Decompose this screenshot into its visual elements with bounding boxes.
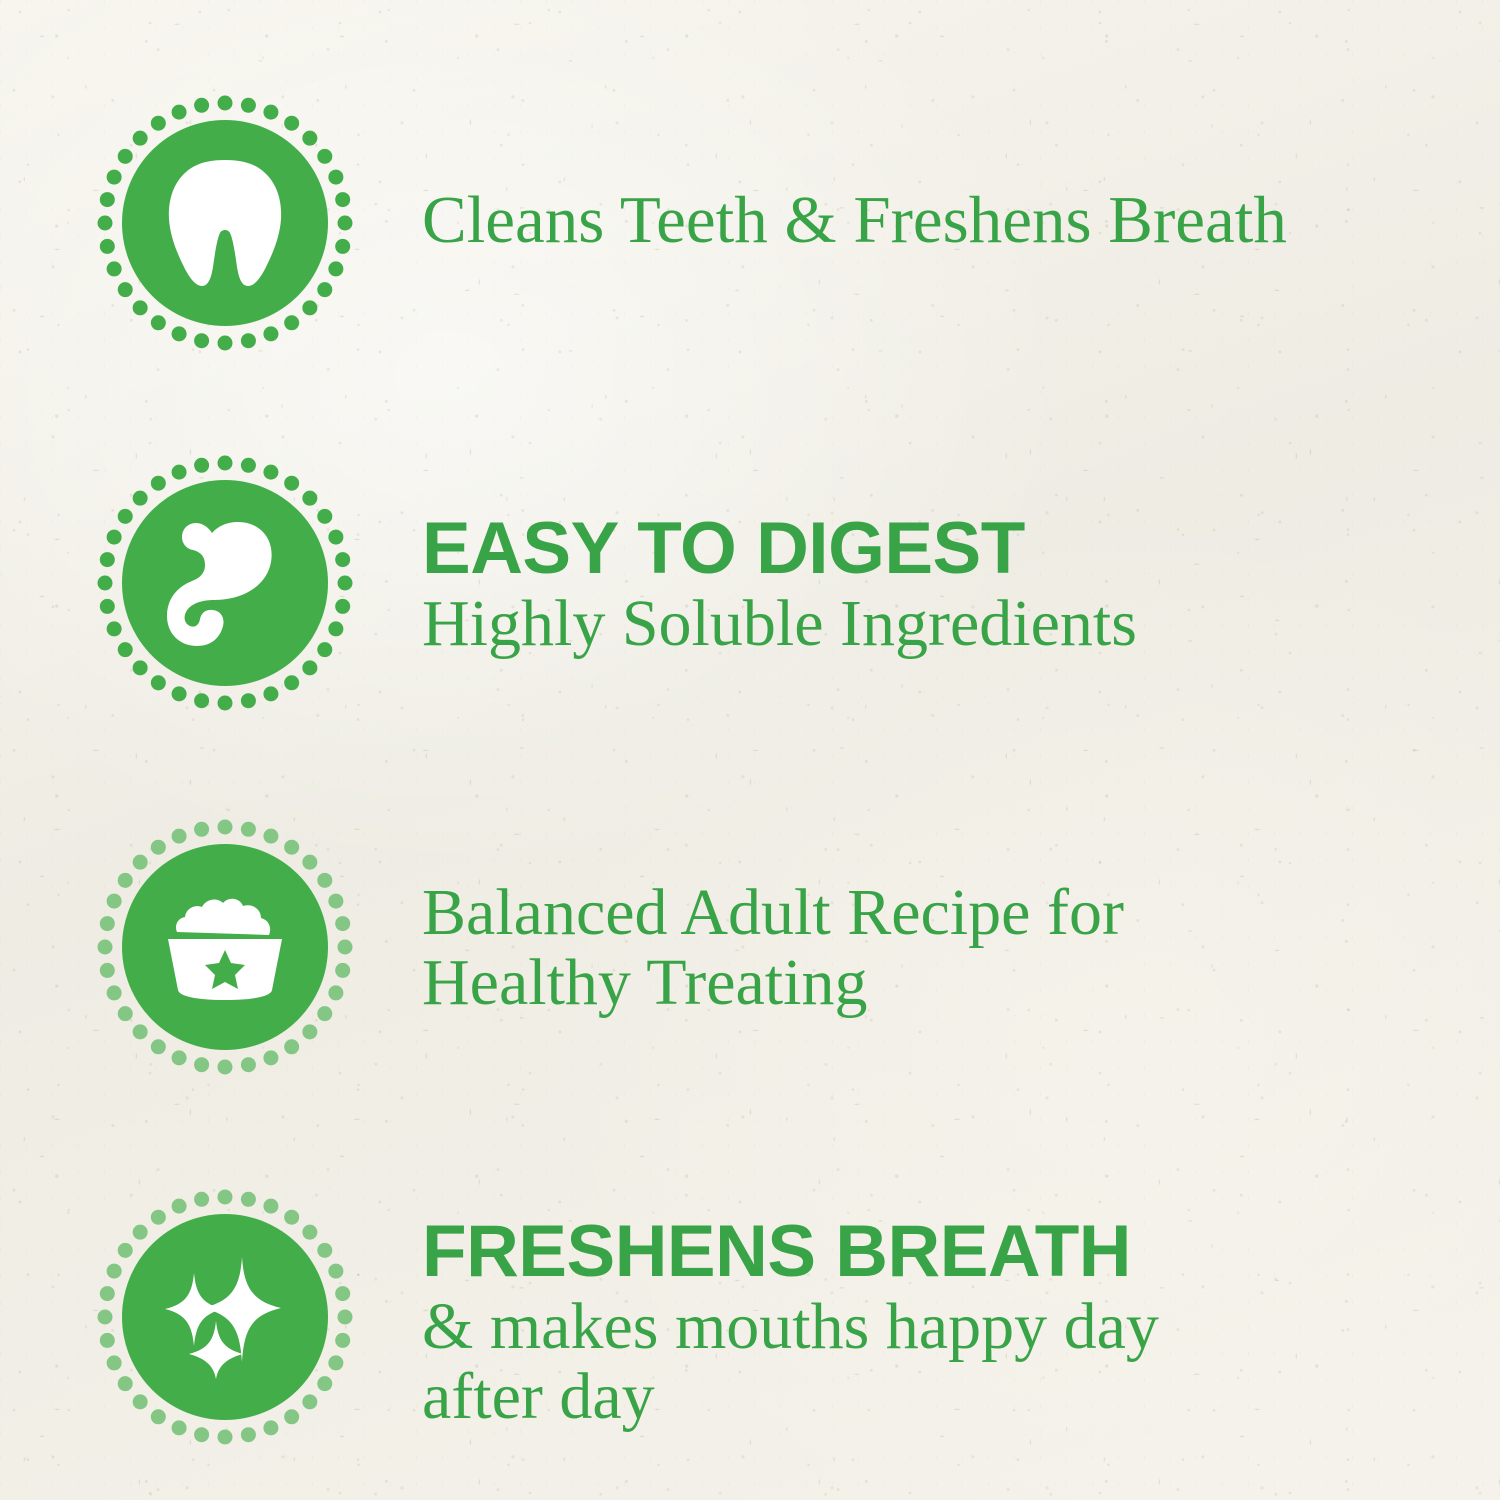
icon-badge-tooth <box>90 88 360 358</box>
food-bowl-icon <box>155 892 295 1002</box>
icon-disc-3 <box>122 844 328 1050</box>
icon-badge-food-bowl <box>90 812 360 1082</box>
feature-subline: Balanced Adult Recipe for <box>422 878 1430 948</box>
feature-row: Cleans Teeth & Freshens Breath <box>0 88 1500 358</box>
icon-badge-sparkles <box>90 1182 360 1452</box>
feature-headline: FRESHENS BREATH <box>422 1216 1430 1288</box>
feature-text-4: FRESHENS BREATH & makes mouths happy day… <box>422 1216 1500 1431</box>
feature-headline: EASY TO DIGEST <box>422 513 1430 585</box>
feature-text-2: EASY TO DIGEST Highly Soluble Ingredient… <box>422 513 1500 658</box>
feature-text-1: Cleans Teeth & Freshens Breath <box>422 185 1500 256</box>
tooth-icon <box>165 157 285 289</box>
icon-disc-2 <box>122 480 328 686</box>
feature-subline: Healthy Treating <box>422 948 1430 1018</box>
feature-subline: Cleans Teeth & Freshens Breath <box>422 185 1430 256</box>
feature-text-3: Balanced Adult Recipe for Healthy Treati… <box>422 878 1500 1018</box>
feature-subline: & makes mouths happy day <box>422 1292 1430 1362</box>
feature-row: EASY TO DIGEST Highly Soluble Ingredient… <box>0 448 1500 718</box>
stomach-icon <box>161 517 289 649</box>
product-benefits-panel: Cleans Teeth & Freshens Breath EASY TO D… <box>0 0 1500 1500</box>
feature-row: FRESHENS BREATH & makes mouths happy day… <box>0 1172 1500 1462</box>
feature-subline: Highly Soluble Ingredients <box>422 589 1430 659</box>
icon-disc-1 <box>122 120 328 326</box>
feature-row: Balanced Adult Recipe for Healthy Treati… <box>0 812 1500 1082</box>
icon-disc-4 <box>122 1214 328 1420</box>
icon-badge-stomach <box>90 448 360 718</box>
sparkles-icon <box>157 1249 293 1385</box>
feature-list: Cleans Teeth & Freshens Breath EASY TO D… <box>0 0 1500 1500</box>
feature-subline: after day <box>422 1362 1430 1432</box>
